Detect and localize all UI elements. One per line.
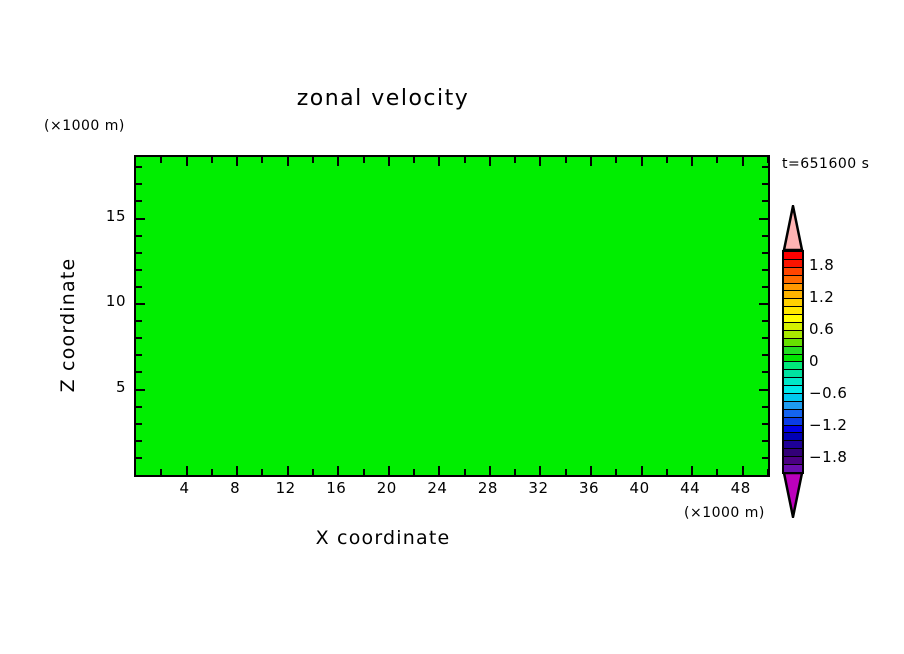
timestamp-annotation: t=651600 s [782,156,869,172]
colorbar-over-arrow-icon [782,205,804,251]
colorbar-label-6: −1.8 [809,448,847,466]
x-tick-label-40: 40 [620,479,660,497]
x-tick-28 [489,466,491,475]
y-tick-18 [762,166,768,168]
colorbar-band-27 [784,465,802,472]
x-tick-4 [186,466,188,475]
x-tick-8 [236,157,238,166]
x-tick-16 [337,466,339,475]
x-tick-12 [287,157,289,166]
y-tick-10 [136,303,145,305]
colorbar-label-5: −1.2 [809,416,847,434]
y-tick-11 [762,286,768,288]
x-tick-label-16: 16 [316,479,356,497]
x-tick-label-12: 12 [266,479,306,497]
y-tick-5 [136,389,145,391]
y-tick-9 [762,320,768,322]
x-tick-label-48: 48 [721,479,761,497]
colorbar-band-3 [784,276,802,284]
y-tick-18 [136,166,142,168]
x-tick-20 [388,157,390,166]
colorbar-band-1 [784,260,802,268]
velocity-field-heatmap [136,157,768,475]
colorbar-label-2: 0.6 [809,320,834,338]
colorbar-band-26 [784,457,802,465]
y-tick-6 [762,371,768,373]
colorbar[interactable]: 1.81.20.60−0.6−1.2−1.8 [782,205,804,515]
y-tick-label-15: 15 [94,207,126,225]
x-axis-title: X coordinate [0,527,766,549]
colorbar-label-1: 1.2 [809,288,834,306]
x-tick-40 [641,157,643,166]
x-tick-44 [691,157,693,166]
colorbar-label-0: 1.8 [809,256,834,274]
x-tick-14 [312,469,314,475]
y-tick-3 [762,423,768,425]
x-tick-24 [438,157,440,166]
x-tick-18 [363,469,365,475]
colorbar-band-4 [784,284,802,292]
x-tick-42 [666,469,668,475]
x-tick-10 [261,469,263,475]
colorbar-band-7 [784,307,802,315]
colorbar-band-16 [784,378,802,386]
x-tick-8 [236,466,238,475]
y-tick-17 [136,183,142,185]
x-tick-label-24: 24 [417,479,457,497]
x-tick-48 [742,157,744,166]
y-axis-title: Z coordinate [57,215,79,435]
y-tick-1 [762,457,768,459]
plot-area[interactable] [134,155,770,477]
x-tick-6 [211,157,213,163]
x-tick-38 [615,157,617,163]
colorbar-band-14 [784,362,802,370]
y-tick-2 [136,440,142,442]
colorbar-band-18 [784,394,802,402]
y-tick-7 [762,354,768,356]
figure-canvas: zonal velocity (×1000 m) 481216202428323… [0,0,904,654]
x-tick-34 [565,157,567,163]
colorbar-bands [782,250,804,474]
y-tick-14 [136,235,142,237]
colorbar-band-15 [784,370,802,378]
colorbar-band-23 [784,433,802,441]
x-tick-4 [186,157,188,166]
y-tick-10 [759,303,768,305]
x-tick-38 [615,469,617,475]
y-tick-15 [759,218,768,220]
x-tick-2 [160,157,162,163]
x-tick-48 [742,466,744,475]
y-axis-unit-label: (×1000 m) [44,118,125,134]
x-tick-2 [160,469,162,475]
y-tick-4 [762,406,768,408]
x-tick-26 [464,469,466,475]
x-tick-label-4: 4 [165,479,205,497]
y-tick-label-5: 5 [94,378,126,396]
x-tick-12 [287,466,289,475]
x-tick-10 [261,157,263,163]
y-tick-12 [762,269,768,271]
x-tick-label-44: 44 [670,479,710,497]
x-tick-16 [337,157,339,166]
y-tick-14 [762,235,768,237]
x-tick-22 [413,157,415,163]
x-tick-46 [716,469,718,475]
x-tick-32 [539,157,541,166]
x-tick-46 [716,157,718,163]
x-tick-34 [565,469,567,475]
x-tick-42 [666,157,668,163]
y-tick-4 [136,406,142,408]
x-tick-label-32: 32 [518,479,558,497]
x-tick-28 [489,157,491,166]
x-tick-26 [464,157,466,163]
colorbar-band-2 [784,268,802,276]
x-tick-label-36: 36 [569,479,609,497]
y-tick-8 [136,337,142,339]
x-tick-40 [641,466,643,475]
x-tick-label-20: 20 [367,479,407,497]
colorbar-band-21 [784,418,802,426]
y-tick-17 [762,183,768,185]
colorbar-band-0 [784,252,802,260]
y-tick-16 [136,200,142,202]
colorbar-band-6 [784,299,802,307]
colorbar-label-4: −0.6 [809,384,847,402]
x-tick-50 [767,157,769,163]
colorbar-label-3: 0 [809,352,819,370]
x-axis-unit-label: (×1000 m) [684,505,765,521]
x-tick-label-28: 28 [468,479,508,497]
y-tick-label-10: 10 [94,292,126,310]
x-tick-20 [388,466,390,475]
colorbar-band-24 [784,441,802,449]
colorbar-band-20 [784,410,802,418]
x-tick-30 [514,469,516,475]
y-tick-5 [759,389,768,391]
x-tick-36 [590,157,592,166]
colorbar-band-19 [784,402,802,410]
colorbar-band-10 [784,331,802,339]
y-tick-8 [762,337,768,339]
y-tick-12 [136,269,142,271]
x-tick-22 [413,469,415,475]
y-tick-11 [136,286,142,288]
y-tick-3 [136,423,142,425]
y-tick-7 [136,354,142,356]
colorbar-band-22 [784,426,802,434]
x-tick-44 [691,466,693,475]
y-tick-2 [762,440,768,442]
y-tick-6 [136,371,142,373]
colorbar-band-5 [784,291,802,299]
colorbar-under-arrow-icon [782,472,804,518]
colorbar-band-12 [784,347,802,355]
colorbar-band-11 [784,339,802,347]
y-tick-15 [136,218,145,220]
x-tick-50 [767,469,769,475]
x-tick-18 [363,157,365,163]
y-tick-13 [762,252,768,254]
colorbar-band-9 [784,323,802,331]
x-tick-24 [438,466,440,475]
colorbar-band-25 [784,449,802,457]
x-tick-14 [312,157,314,163]
x-tick-label-8: 8 [215,479,255,497]
x-tick-6 [211,469,213,475]
y-tick-16 [762,200,768,202]
y-tick-13 [136,252,142,254]
x-tick-36 [590,466,592,475]
colorbar-band-8 [784,315,802,323]
page-title: zonal velocity [0,86,766,111]
x-tick-32 [539,466,541,475]
colorbar-band-13 [784,355,802,363]
y-tick-9 [136,320,142,322]
x-tick-30 [514,157,516,163]
y-tick-1 [136,457,142,459]
colorbar-band-17 [784,386,802,394]
